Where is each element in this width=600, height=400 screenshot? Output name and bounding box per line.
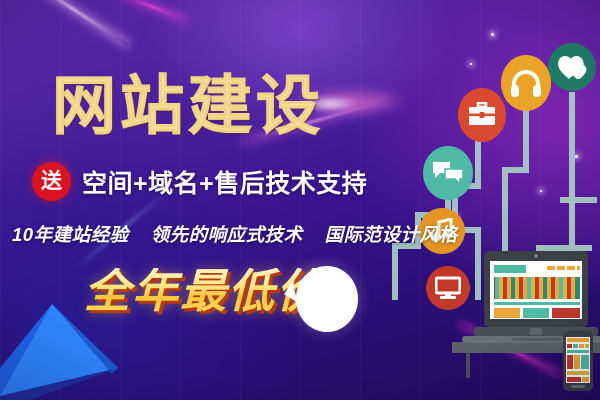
headphones-icon bbox=[501, 55, 551, 111]
feature-item: 领先的响应式技术 bbox=[151, 221, 303, 247]
feature-list: 10年建站经验 领先的响应式技术 国际范设计风格 bbox=[12, 221, 458, 247]
briefcase-icon bbox=[458, 88, 506, 142]
website-construction-banner: 网站建设 送 空间+域名+售后技术支持 10年建站经验 领先的响应式技术 国际范… bbox=[0, 0, 600, 400]
page-title: 网站建设 bbox=[52, 74, 324, 138]
gift-offer-text: 空间+域名+售后技术支持 bbox=[82, 164, 367, 200]
chat-bubbles-icon bbox=[423, 146, 473, 200]
feature-item: 10年建站经验 bbox=[12, 221, 129, 247]
gift-offer-row: 送 空间+域名+售后技术支持 bbox=[32, 162, 367, 201]
speech-bubble bbox=[296, 266, 358, 332]
hearts-icon bbox=[548, 43, 596, 91]
gift-badge: 送 bbox=[32, 162, 71, 201]
feature-item: 国际范设计风格 bbox=[325, 221, 458, 247]
smartphone-mockup bbox=[562, 330, 596, 394]
